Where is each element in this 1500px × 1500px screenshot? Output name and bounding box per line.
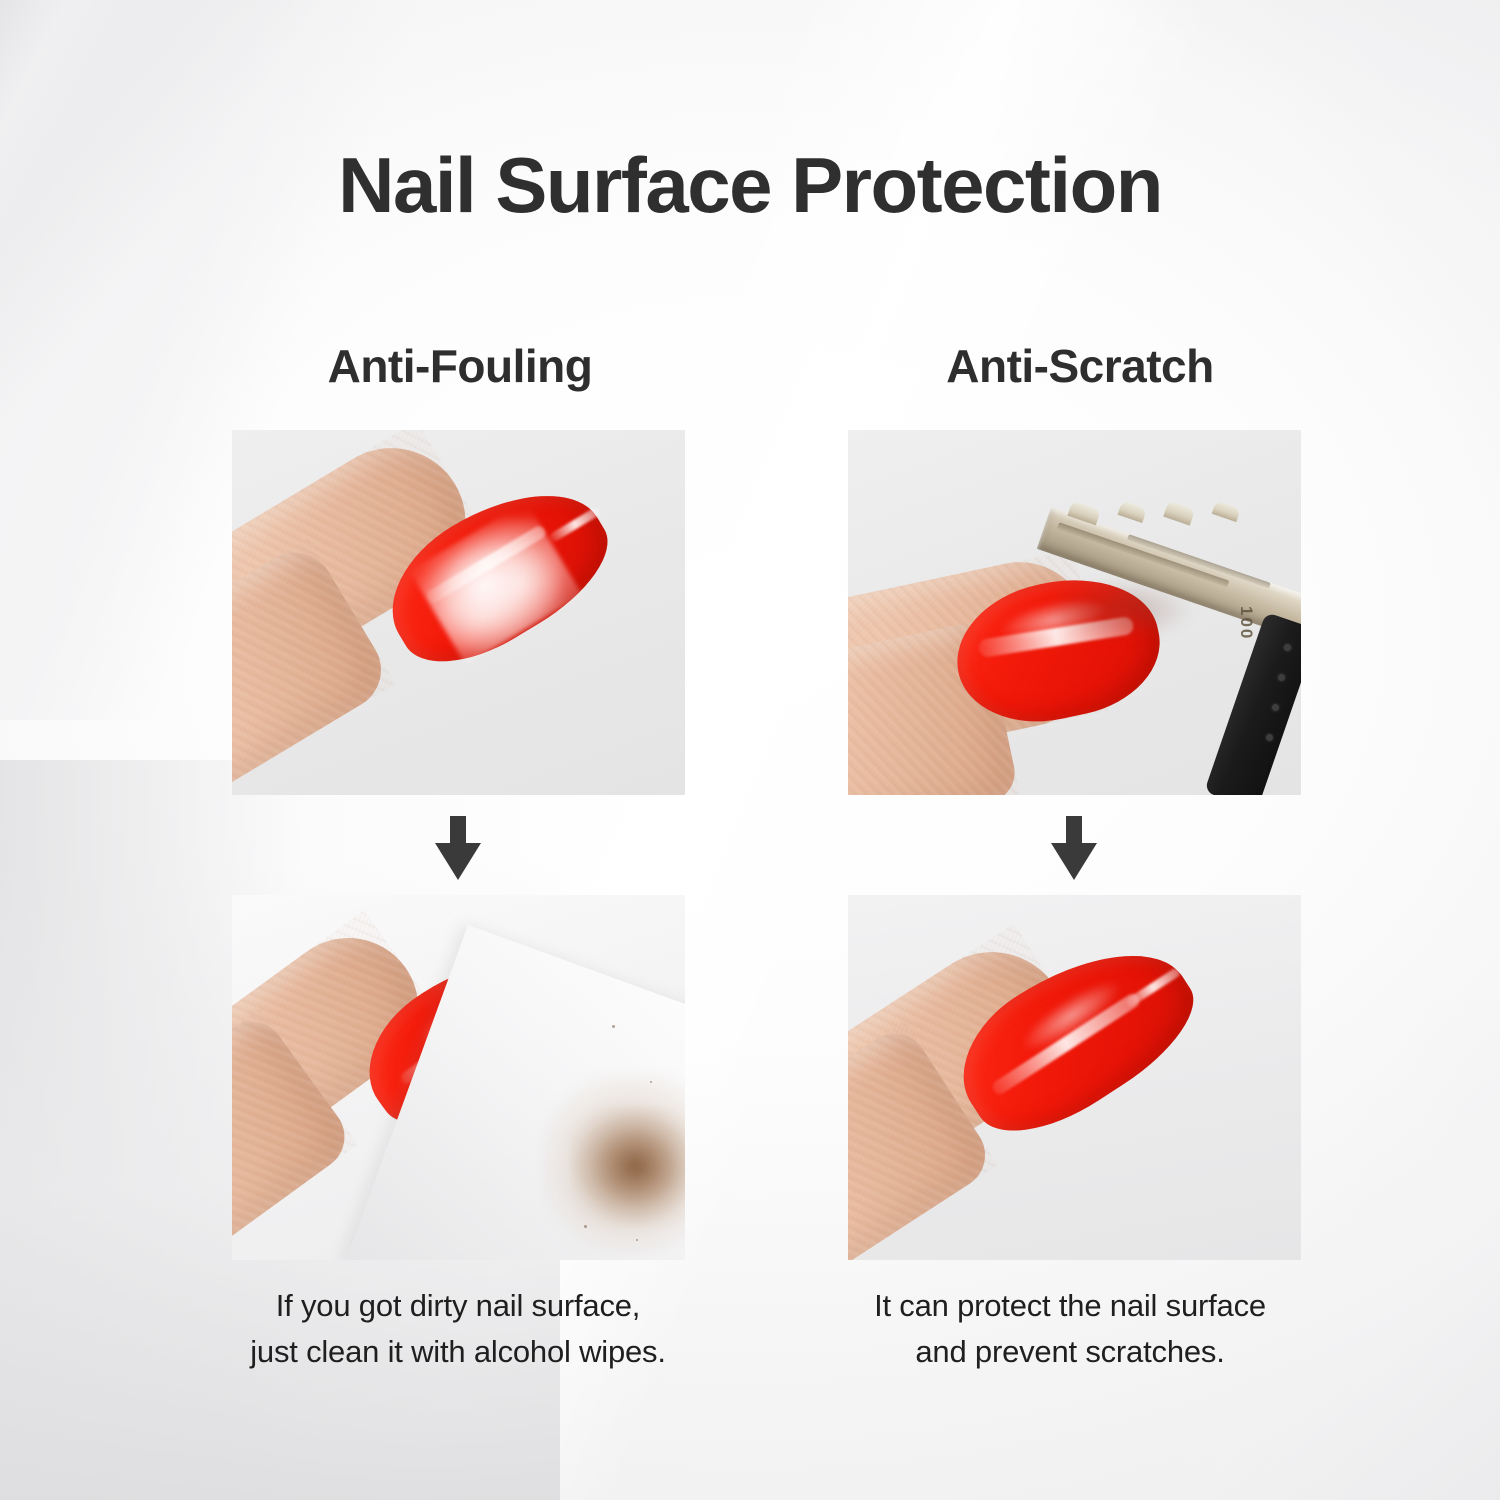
- wipe-dirt-fleck: [650, 1081, 652, 1083]
- caption-line: and prevent scratches.: [760, 1329, 1380, 1375]
- wipe-dirt-halo: [542, 1073, 685, 1253]
- column-heading-anti-scratch: Anti-Scratch: [790, 340, 1370, 400]
- column-anti-scratch: Anti-Scratch: [790, 340, 1370, 400]
- key-head-dot: [1272, 704, 1279, 711]
- arrow-head: [1051, 843, 1097, 880]
- key-stamp-text: 100: [1236, 606, 1256, 640]
- key-head-dot: [1266, 734, 1273, 741]
- photo-anti-fouling-after: [232, 895, 685, 1260]
- key-head-dot: [1284, 644, 1291, 651]
- caption-anti-fouling: If you got dirty nail surface, just clea…: [148, 1283, 768, 1375]
- wipe-dirt-fleck: [636, 1239, 638, 1241]
- arrow-down-icon: [435, 816, 481, 880]
- photo-anti-fouling-before: [232, 430, 685, 795]
- arrow-head: [435, 843, 481, 880]
- photo-anti-scratch-after: [848, 895, 1301, 1260]
- wipe-dirt-fleck: [612, 1025, 615, 1028]
- caption-anti-scratch: It can protect the nail surface and prev…: [760, 1283, 1380, 1375]
- caption-line: If you got dirty nail surface,: [148, 1283, 768, 1329]
- caption-line: It can protect the nail surface: [760, 1283, 1380, 1329]
- column-anti-fouling: Anti-Fouling: [170, 340, 750, 400]
- arrow-down-icon: [1051, 816, 1097, 880]
- arrow-shaft: [1066, 816, 1082, 846]
- key-head-dot: [1278, 674, 1285, 681]
- photo-anti-scratch-before: 100: [848, 430, 1301, 795]
- caption-line: just clean it with alcohol wipes.: [148, 1329, 768, 1375]
- page-title: Nail Surface Protection: [0, 140, 1500, 231]
- wipe-dirt-fleck: [584, 1225, 587, 1228]
- arrow-shaft: [450, 816, 466, 846]
- column-heading-anti-fouling: Anti-Fouling: [170, 340, 750, 400]
- product-infographic-page: Nail Surface Protection Anti-Fouling Ant…: [0, 0, 1500, 1500]
